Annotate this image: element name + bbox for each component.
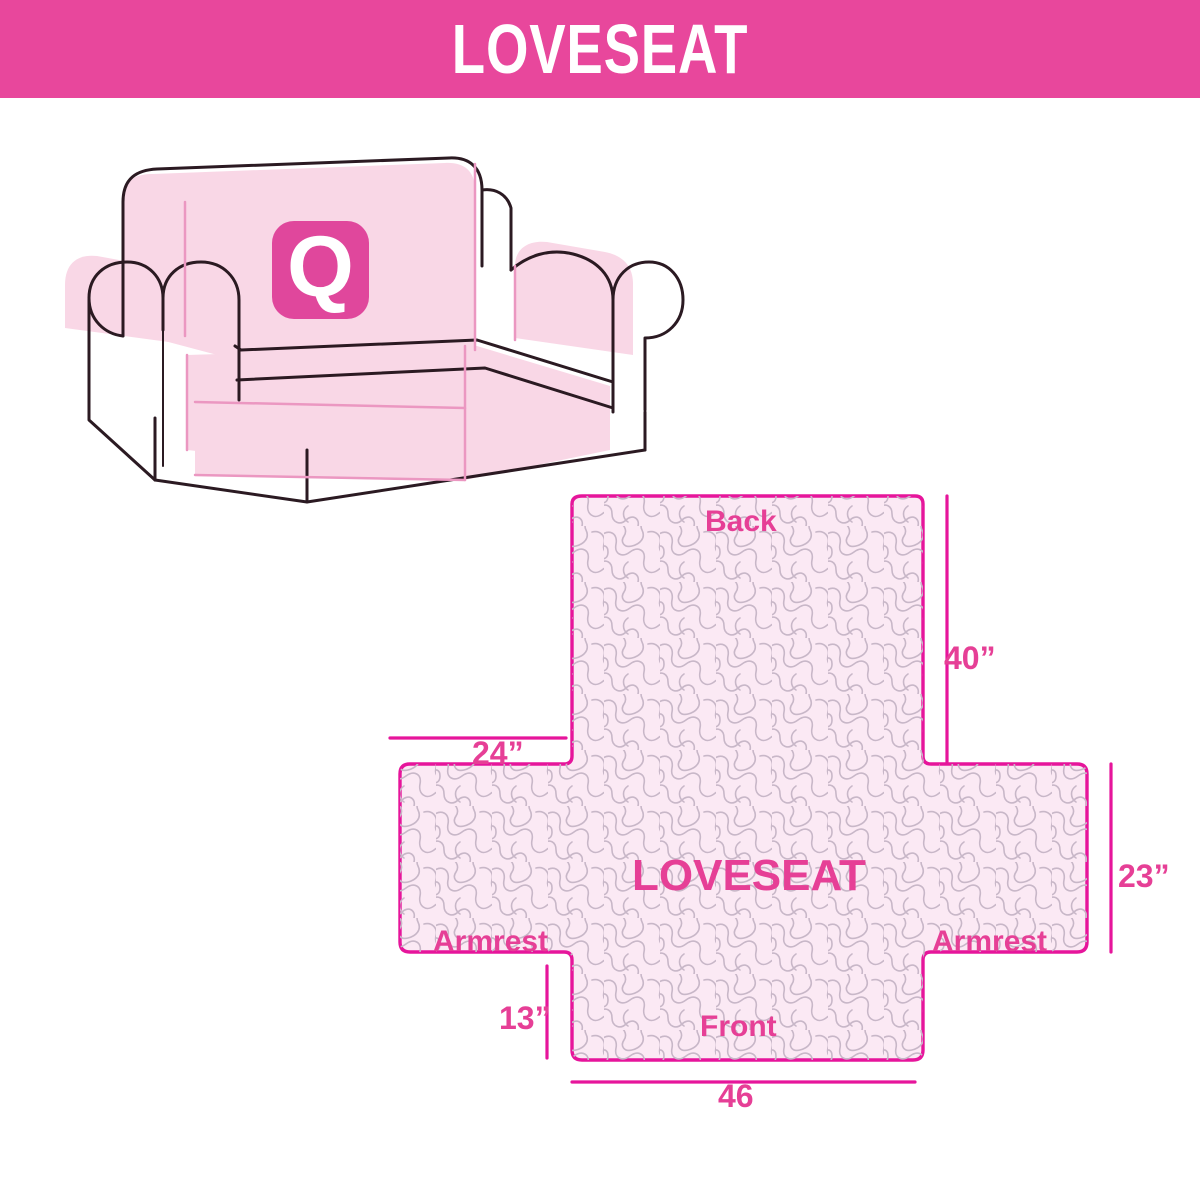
cover-flat-layout-diagram — [380, 470, 1180, 1150]
page-title: LOVESEAT — [452, 14, 748, 84]
brand-logo-letter: Q — [287, 224, 354, 310]
brand-logo-badge: Q — [272, 221, 369, 319]
header-banner: LOVESEAT — [0, 0, 1200, 98]
diagram-center-title: LOVESEAT — [632, 851, 866, 901]
product-dimension-infographic: LOVESEAT .ol { fill:none; stroke:#2b1a22… — [0, 0, 1200, 1200]
quilt-texture — [380, 470, 1180, 1150]
